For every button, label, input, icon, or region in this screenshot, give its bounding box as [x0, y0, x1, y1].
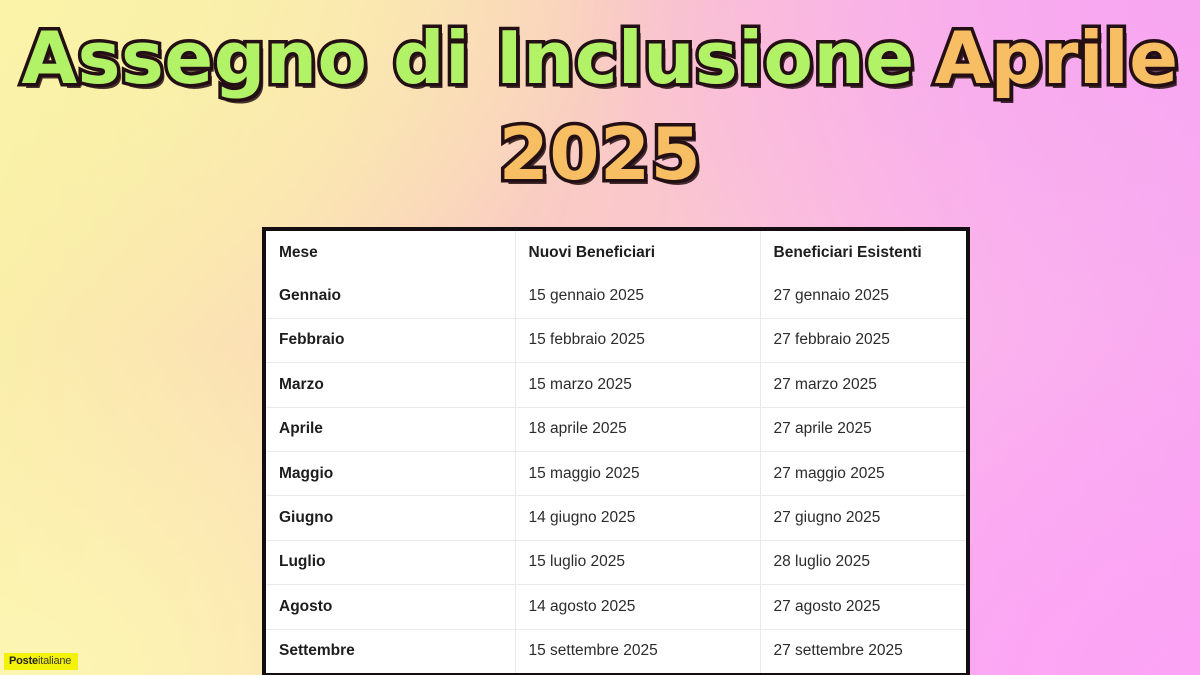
table-header: Mese Nuovi Beneficiari Beneficiari Esist…: [266, 231, 966, 274]
cell-esistenti: 27 agosto 2025: [760, 585, 966, 629]
cell-esistenti: 27 giugno 2025: [760, 496, 966, 540]
cell-esistenti: 28 luglio 2025: [760, 540, 966, 584]
table-row: Settembre 15 settembre 2025 27 settembre…: [266, 629, 966, 673]
table-row: Gennaio 15 gennaio 2025 27 gennaio 2025: [266, 274, 966, 318]
cell-mese: Marzo: [266, 363, 515, 407]
title-text-orange: Aprile: [935, 22, 1179, 94]
cell-mese: Settembre: [266, 629, 515, 673]
table-row: Luglio 15 luglio 2025 28 luglio 2025: [266, 540, 966, 584]
table-body: Gennaio 15 gennaio 2025 27 gennaio 2025 …: [266, 274, 966, 673]
schedule-table: Mese Nuovi Beneficiari Beneficiari Esist…: [266, 231, 966, 673]
title-line-2: 2025: [0, 94, 1200, 190]
cell-nuovi: 15 febbraio 2025: [515, 318, 760, 362]
poster-title: Assegno di InclusioneAprile 2025: [0, 8, 1200, 190]
table-row: Marzo 15 marzo 2025 27 marzo 2025: [266, 363, 966, 407]
cell-nuovi: 15 maggio 2025: [515, 451, 760, 495]
cell-mese: Gennaio: [266, 274, 515, 318]
cell-mese: Luglio: [266, 540, 515, 584]
table-header-row: Mese Nuovi Beneficiari Beneficiari Esist…: [266, 231, 966, 274]
cell-nuovi: 14 giugno 2025: [515, 496, 760, 540]
cell-esistenti: 27 aprile 2025: [760, 407, 966, 451]
cell-nuovi: 14 agosto 2025: [515, 585, 760, 629]
cell-esistenti: 27 maggio 2025: [760, 451, 966, 495]
poste-italiane-watermark: Posteitaliane: [4, 653, 78, 670]
table-row: Aprile 18 aprile 2025 27 aprile 2025: [266, 407, 966, 451]
title-text-green: Assegno di Inclusione: [21, 22, 914, 94]
cell-esistenti: 27 gennaio 2025: [760, 274, 966, 318]
table-row: Maggio 15 maggio 2025 27 maggio 2025: [266, 451, 966, 495]
cell-nuovi: 15 settembre 2025: [515, 629, 760, 673]
cell-nuovi: 18 aprile 2025: [515, 407, 760, 451]
table-row: Febbraio 15 febbraio 2025 27 febbraio 20…: [266, 318, 966, 362]
title-text-year: 2025: [499, 118, 701, 190]
cell-mese: Febbraio: [266, 318, 515, 362]
table-row: Agosto 14 agosto 2025 27 agosto 2025: [266, 585, 966, 629]
cell-mese: Maggio: [266, 451, 515, 495]
cell-mese: Aprile: [266, 407, 515, 451]
cell-nuovi: 15 luglio 2025: [515, 540, 760, 584]
column-header-nuovi-beneficiari: Nuovi Beneficiari: [515, 231, 760, 274]
column-header-mese: Mese: [266, 231, 515, 274]
watermark-bold-text: Poste: [9, 655, 38, 667]
cell-nuovi: 15 marzo 2025: [515, 363, 760, 407]
payment-schedule-table: Mese Nuovi Beneficiari Beneficiari Esist…: [262, 227, 970, 675]
column-header-beneficiari-esistenti: Beneficiari Esistenti: [760, 231, 966, 274]
cell-esistenti: 27 marzo 2025: [760, 363, 966, 407]
poster-canvas: Assegno di InclusioneAprile 2025 Mese Nu…: [0, 0, 1200, 675]
cell-esistenti: 27 settembre 2025: [760, 629, 966, 673]
cell-mese: Agosto: [266, 585, 515, 629]
cell-esistenti: 27 febbraio 2025: [760, 318, 966, 362]
watermark-light-text: italiane: [38, 655, 71, 667]
cell-nuovi: 15 gennaio 2025: [515, 274, 760, 318]
title-line-1: Assegno di InclusioneAprile: [0, 8, 1200, 94]
cell-mese: Giugno: [266, 496, 515, 540]
table-row: Giugno 14 giugno 2025 27 giugno 2025: [266, 496, 966, 540]
